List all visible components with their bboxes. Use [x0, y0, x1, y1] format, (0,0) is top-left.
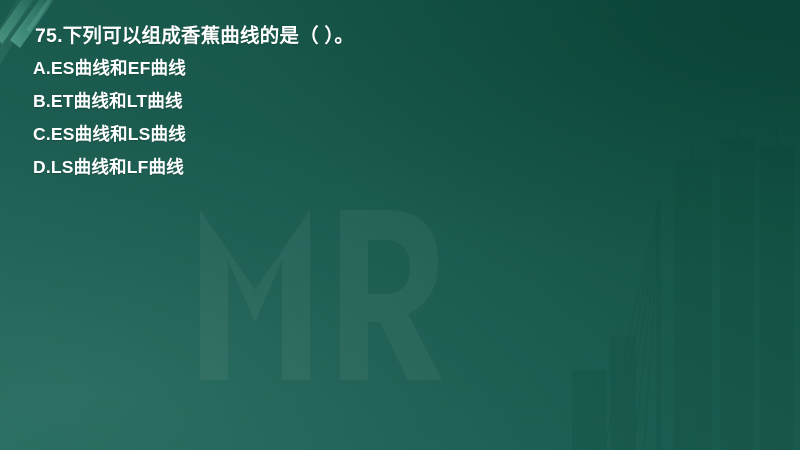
option-c[interactable]: C.ES曲线和LS曲线 [33, 126, 760, 144]
question-block: 75.下列可以组成香蕉曲线的是（ ）。 A.ES曲线和EF曲线 B.ET曲线和L… [33, 27, 760, 176]
quiz-slide: 75.下列可以组成香蕉曲线的是（ ）。 A.ES曲线和EF曲线 B.ET曲线和L… [0, 0, 800, 450]
center-logo-watermark [170, 150, 470, 400]
question-title: 75.下列可以组成香蕉曲线的是（ ）。 [35, 27, 760, 47]
option-d[interactable]: D.LS曲线和LF曲线 [33, 159, 760, 177]
option-b[interactable]: B.ET曲线和LT曲线 [33, 93, 760, 111]
option-a[interactable]: A.ES曲线和EF曲线 [33, 60, 760, 78]
options-list: A.ES曲线和EF曲线 B.ET曲线和LT曲线 C.ES曲线和LS曲线 D.LS… [33, 60, 760, 177]
